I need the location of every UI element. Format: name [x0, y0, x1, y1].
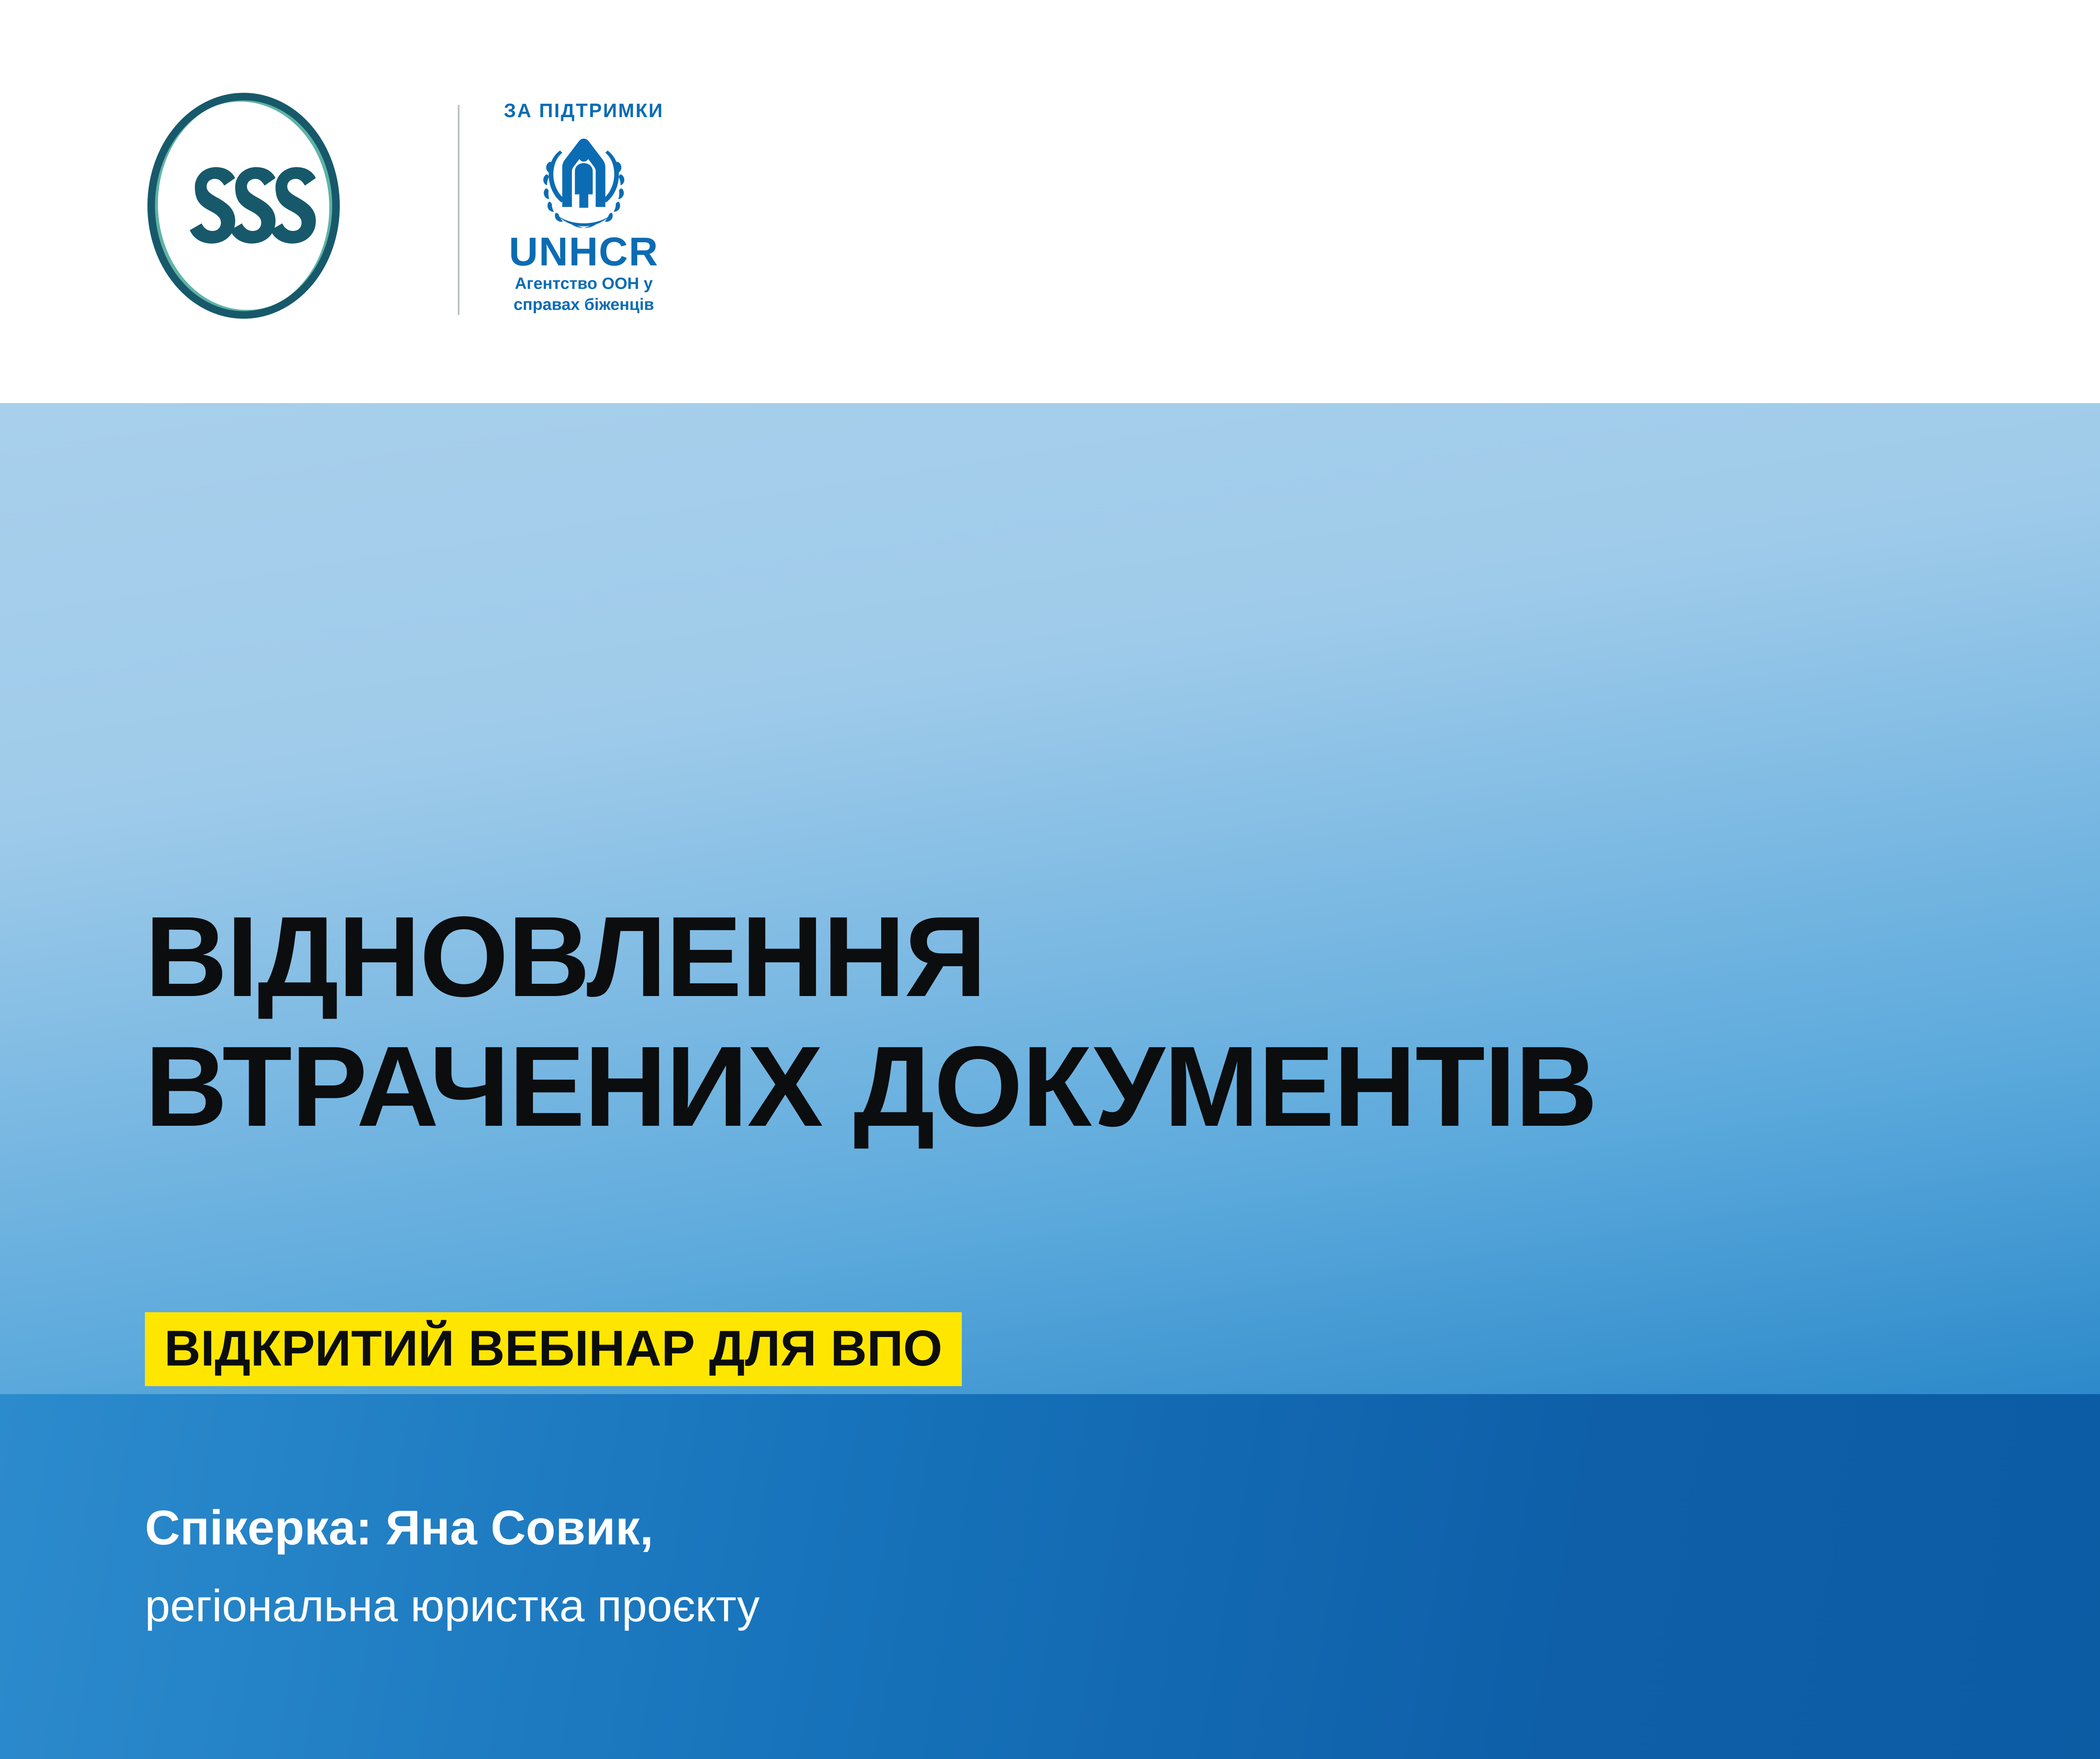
unhcr-wordmark: UNHCR: [475, 232, 693, 272]
page-title: ВІДНОВЛЕННЯ ВТРАЧЕНИХ ДОКУМЕНТІВ: [145, 901, 2100, 1142]
header-bar: ЗА ПІДТРИМКИ: [0, 0, 2100, 403]
illustration-documents: [2058, 1058, 2100, 1759]
speaker-name: Спікерка: Яна Совик,: [145, 1503, 654, 1552]
unhcr-logo-block: ЗА ПІДТРИМКИ: [475, 101, 693, 323]
unhcr-sub-line1: Агентство ООН у: [475, 275, 693, 293]
subtitle-badge: ВІДКРИТИЙ ВЕБІНАР ДЛЯ ВПО: [145, 1312, 962, 1386]
sss-logo: [134, 88, 353, 323]
unhcr-sub-line2: справах біженців: [475, 296, 693, 314]
main-panel: ВІДНОВЛЕННЯ ВТРАЧЕНИХ ДОКУМЕНТІВ ВІДКРИТ…: [0, 403, 2100, 1759]
unhcr-emblem-icon: [527, 133, 640, 229]
decor-bottom-band: [0, 1394, 2100, 1759]
promo-banner: ЗА ПІДТРИМКИ: [0, 0, 2100, 1759]
header-divider: [458, 105, 459, 315]
subtitle-badge-label: ВІДКРИТИЙ ВЕБІНАР ДЛЯ ВПО: [164, 1323, 942, 1374]
speaker-role: регіональна юристка проєкту: [145, 1583, 760, 1628]
headline-line-1: ВІДНОВЛЕННЯ: [145, 893, 986, 1020]
support-label: ЗА ПІДТРИМКИ: [475, 101, 693, 120]
headline-line-2: ВТРАЧЕНИХ ДОКУМЕНТІВ: [145, 1030, 2100, 1143]
